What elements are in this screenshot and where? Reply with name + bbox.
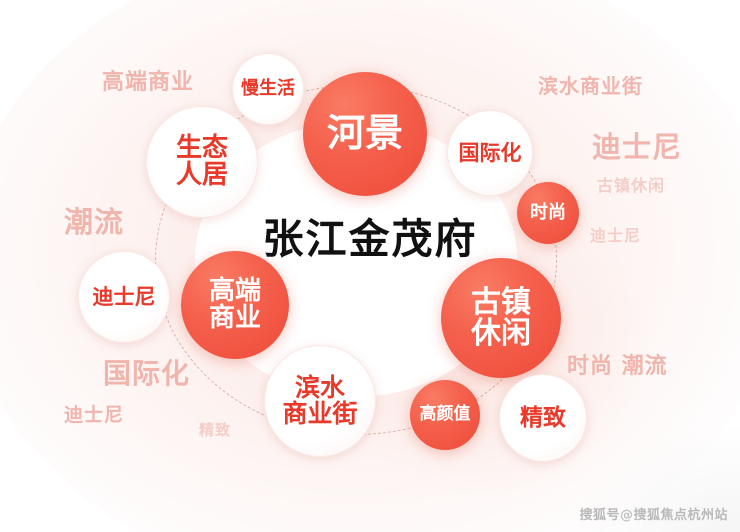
bubble-label: 高颜值 <box>420 406 471 424</box>
bubble-high-value[interactable]: 高颜值 <box>410 380 480 450</box>
background-keyword: 古镇休闲 <box>597 172 665 196</box>
bubble-label: 生态人居 <box>176 135 228 190</box>
bubble-old-town-leisure[interactable]: 古镇休闲 <box>441 258 561 378</box>
bubble-exquisite[interactable]: 精致 <box>499 374 587 462</box>
bubble-slow-life[interactable]: 慢生活 <box>232 53 304 125</box>
bubble-label: 滨水商业街 <box>282 375 357 428</box>
background-keyword: 时尚 潮流 <box>567 348 668 380</box>
background-keyword: 迪士尼 <box>64 400 124 427</box>
background-keyword: 迪士尼 <box>592 124 682 166</box>
bubble-label: 慢生活 <box>241 80 295 99</box>
watermark-prefix: 搜狐号 <box>579 508 620 523</box>
background-keyword: 滨水商业街 <box>538 70 643 99</box>
infographic-canvas: 高端商业滨水商业街迪士尼古镇休闲潮流迪士尼国际化时尚 潮流迪士尼精致 慢生活河景… <box>0 0 740 532</box>
bubble-label: 古镇休闲 <box>471 287 531 350</box>
bubble-high-end-biz[interactable]: 高端商业 <box>181 251 289 359</box>
bubble-label: 河景 <box>327 114 403 154</box>
background-keyword: 高端商业 <box>102 64 194 96</box>
watermark-account: 搜狐焦点杭州站 <box>633 508 728 523</box>
background-keyword: 国际化 <box>103 352 190 392</box>
watermark-separator: @ <box>620 508 634 523</box>
bubble-eco-living[interactable]: 生态人居 <box>146 106 258 218</box>
bubble-river-view[interactable]: 河景 <box>303 72 427 196</box>
bubble-label: 迪士尼 <box>93 286 156 308</box>
center-title: 张江金茂府 <box>0 205 740 265</box>
bubble-internationalize[interactable]: 国际化 <box>447 110 533 196</box>
background-keyword: 精致 <box>199 419 231 440</box>
bubble-label: 精致 <box>520 406 566 430</box>
bubble-label: 国际化 <box>459 142 522 164</box>
watermark: 搜狐号@搜狐焦点杭州站 <box>579 504 728 523</box>
bubble-label: 高端商业 <box>209 278 261 333</box>
bubble-waterfront-street[interactable]: 滨水商业街 <box>264 345 376 457</box>
